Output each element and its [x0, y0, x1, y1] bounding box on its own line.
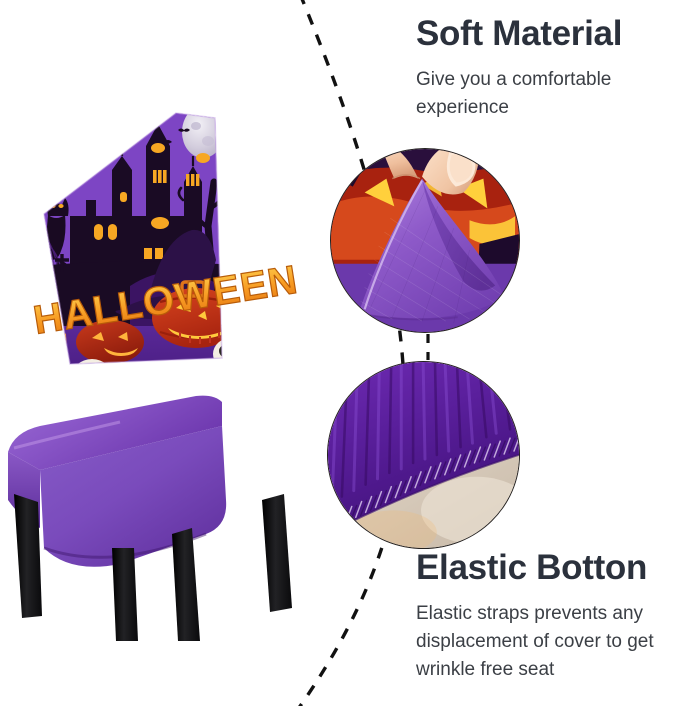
fabric-pinch-closeup [330, 148, 520, 333]
feature-title-elastic-bottom: Elastic Botton [416, 546, 674, 590]
chair-seat [8, 396, 226, 567]
feature-elastic-bottom: Elastic Botton Elastic straps prevents a… [416, 546, 674, 684]
feature-description-elastic-bottom: Elastic straps prevents any displacement… [416, 600, 674, 684]
skull-graphic-mid [71, 359, 113, 403]
chair-leg-back-left [262, 494, 292, 612]
chair-backrest [20, 96, 250, 406]
skull-graphic-left [37, 367, 75, 406]
elastic-hem-closeup [327, 361, 520, 549]
skull-graphic-right [213, 338, 249, 375]
chair-leg-back-right [172, 528, 200, 641]
chair-leg-front-left [14, 494, 42, 618]
halloween-chair-cover-photo: HALLOWEEN [0, 96, 320, 641]
infographic-canvas: HALLOWEEN [0, 0, 679, 706]
feature-description-soft-material: Give you a comfortable experience [416, 66, 671, 122]
chair-leg-front-right [112, 548, 138, 641]
feature-title-soft-material: Soft Material [416, 12, 671, 56]
feature-soft-material: Soft Material Give you a comfortable exp… [416, 12, 671, 122]
